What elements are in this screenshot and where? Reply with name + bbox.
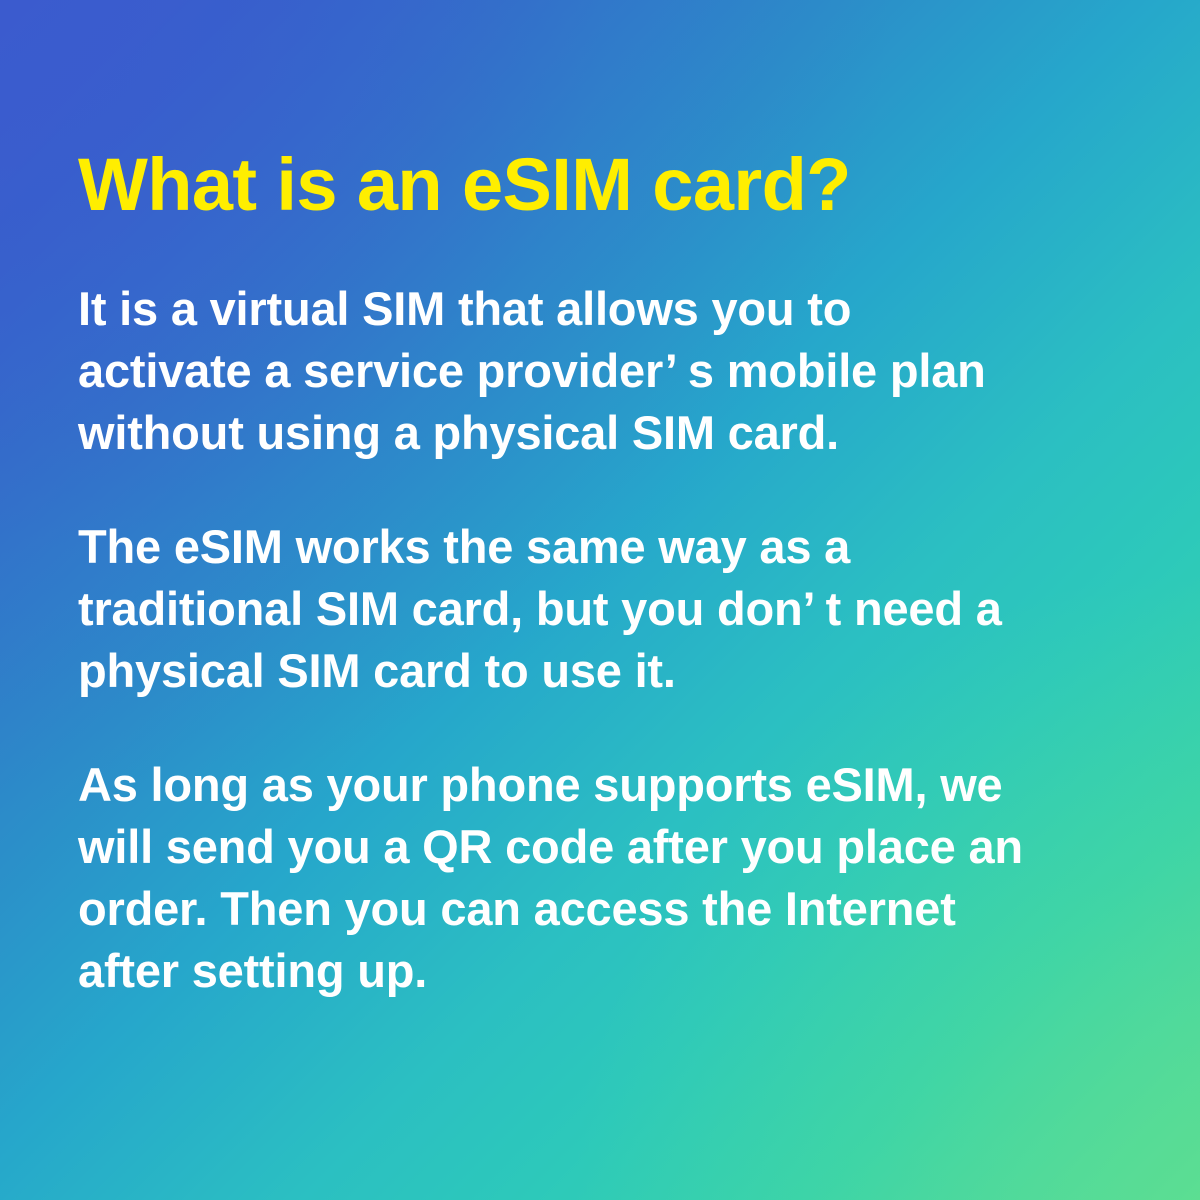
page-title: What is an eSIM card? [78, 0, 1122, 222]
card-content: What is an eSIM card? It is a virtual SI… [0, 0, 1200, 1002]
paragraph-definition: It is a virtual SIM that allows you to a… [78, 278, 1028, 464]
esim-info-card: What is an eSIM card? It is a virtual SI… [0, 0, 1200, 1200]
body-text-block: It is a virtual SIM that allows you to a… [78, 278, 1122, 1002]
paragraph-how-it-works: The eSIM works the same way as a traditi… [78, 516, 1028, 702]
paragraph-qr-delivery: As long as your phone supports eSIM, we … [78, 754, 1028, 1002]
